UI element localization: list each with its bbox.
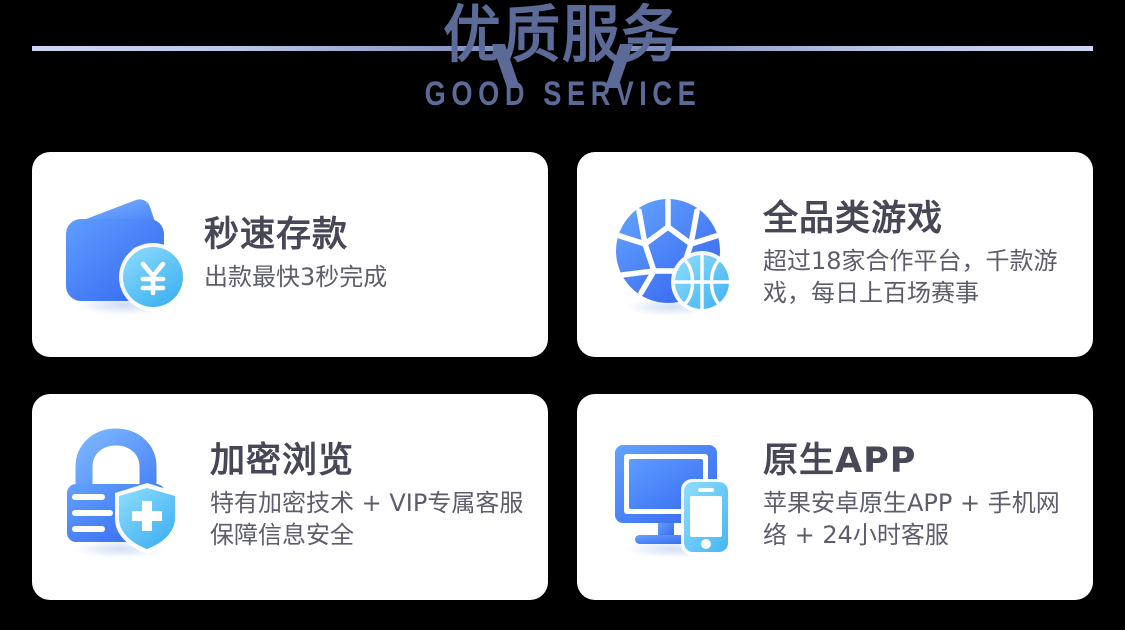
card-title: 加密浏览 [210,442,532,481]
wallet-yen-icon [58,189,190,321]
feature-card-encryption[interactable]: 加密浏览 特有加密技术 + VIP专属客服保障信息安全 [32,394,548,600]
lock-shield-icon [58,431,190,563]
card-text-block: 全品类游戏 超过18家合作平台，千款游戏，每日上百场赛事 [741,200,1077,310]
card-description: 特有加密技术 + VIP专属客服保障信息安全 [210,488,532,551]
card-description: 苹果安卓原生APP + 手机网络 + 24小时客服 [763,488,1077,551]
section-header: 优质服务 GOOD SERVICE [0,0,1125,148]
page-subtitle: GOOD SERVICE [424,77,701,111]
monitor-phone-icon [609,431,741,563]
card-description: 出款最快3秒完成 [204,262,532,294]
header-text-block: 优质服务 GOOD SERVICE [0,4,1125,111]
card-text-block: 秒速存款 出款最快3秒完成 [190,216,532,294]
good-service-panel: 优质服务 GOOD SERVICE [0,0,1125,630]
page-title: 优质服务 [443,4,681,66]
card-title: 全品类游戏 [763,200,1077,239]
card-title: 秒速存款 [204,216,532,255]
feature-card-grid: 秒速存款 出款最快3秒完成 [32,152,1093,600]
feature-card-native-app[interactable]: 原生APP 苹果安卓原生APP + 手机网络 + 24小时客服 [577,394,1093,600]
card-text-block: 原生APP 苹果安卓原生APP + 手机网络 + 24小时客服 [741,442,1077,552]
card-text-block: 加密浏览 特有加密技术 + VIP专属客服保障信息安全 [190,442,532,552]
card-description: 超过18家合作平台，千款游戏，每日上百场赛事 [763,246,1077,309]
feature-card-games[interactable]: 全品类游戏 超过18家合作平台，千款游戏，每日上百场赛事 [577,152,1093,357]
soccer-basketball-icon [609,189,741,321]
feature-card-deposit[interactable]: 秒速存款 出款最快3秒完成 [32,152,548,357]
card-title: 原生APP [763,442,1077,481]
